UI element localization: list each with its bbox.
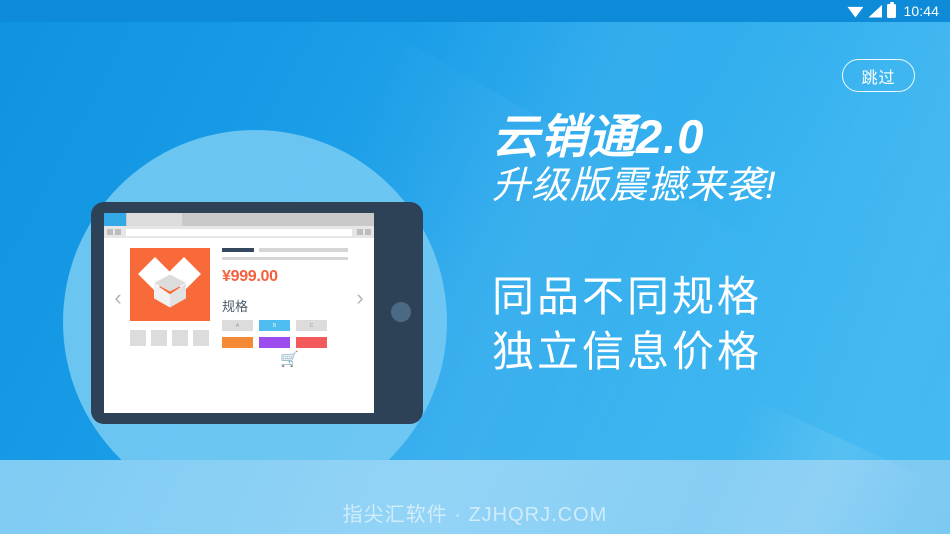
wifi-icon: [847, 5, 863, 18]
product-desc-placeholder: [222, 257, 348, 261]
headline-secondary: 升级版震撼来袭!: [492, 163, 777, 211]
browser-menu-icon: [357, 229, 363, 235]
spec-label: 规格: [222, 296, 348, 315]
size-chip-group: A B C: [222, 320, 348, 331]
tagline-line-1: 同品不同规格: [492, 269, 777, 324]
prev-arrow-icon[interactable]: ‹: [110, 248, 126, 367]
product-price: ¥999.00: [222, 268, 348, 286]
signal-icon: [868, 5, 882, 18]
open-box-icon: [141, 256, 199, 314]
tagline-line-2: 独立信息价格: [492, 324, 777, 379]
size-chip-c[interactable]: C: [296, 320, 327, 331]
size-chip-a[interactable]: A: [222, 320, 253, 331]
status-bar: 10:44: [0, 0, 950, 22]
product-info: ¥999.00 规格 A B C 🛒: [214, 248, 348, 367]
next-arrow-icon[interactable]: ›: [352, 248, 368, 367]
status-bar-clock: 10:44: [903, 3, 939, 19]
browser-back-icon: [107, 229, 113, 235]
browser-address-bar: [104, 226, 374, 238]
color-swatch-red[interactable]: [296, 337, 327, 348]
watermark: 指尖汇软件 · ZJHQRJ.COM: [0, 498, 950, 527]
tablet-home-button: [391, 302, 411, 322]
marketing-copy: 云销通2.0 升级版震撼来袭! 同品不同规格 独立信息价格: [492, 112, 777, 380]
browser-settings-icon: [365, 229, 371, 235]
product-gallery: [130, 248, 210, 367]
tablet-illustration: ‹: [91, 202, 423, 424]
browser-tab-inactive: [127, 213, 182, 226]
battery-icon: [887, 4, 896, 18]
color-swatch-group: [222, 337, 348, 348]
browser-url-field: [126, 229, 352, 236]
product-thumbnails: [130, 330, 210, 346]
skip-button-label: 跳过: [861, 64, 895, 88]
product-thumbnail[interactable]: [193, 330, 209, 346]
product-page: ‹: [104, 238, 374, 367]
browser-tab-bar: [104, 213, 374, 226]
product-image: [130, 248, 210, 321]
headline-primary: 云销通2.0: [492, 112, 777, 161]
product-title-placeholder: [222, 248, 348, 252]
product-thumbnail[interactable]: [172, 330, 188, 346]
size-chip-b[interactable]: B: [259, 320, 290, 331]
color-swatch-purple[interactable]: [259, 337, 290, 348]
product-thumbnail[interactable]: [130, 330, 146, 346]
browser-tab-active: [104, 213, 126, 226]
splash-screen: SHOWcase 10:44 跳过 ‹: [0, 0, 950, 534]
tagline-block: 同品不同规格 独立信息价格: [492, 269, 777, 380]
browser-forward-icon: [115, 229, 121, 235]
product-thumbnail[interactable]: [151, 330, 167, 346]
skip-button[interactable]: 跳过: [842, 59, 915, 92]
color-swatch-orange[interactable]: [222, 337, 253, 348]
tablet-screen: ‹: [104, 213, 374, 413]
shopping-cart-icon[interactable]: 🛒: [280, 352, 348, 367]
